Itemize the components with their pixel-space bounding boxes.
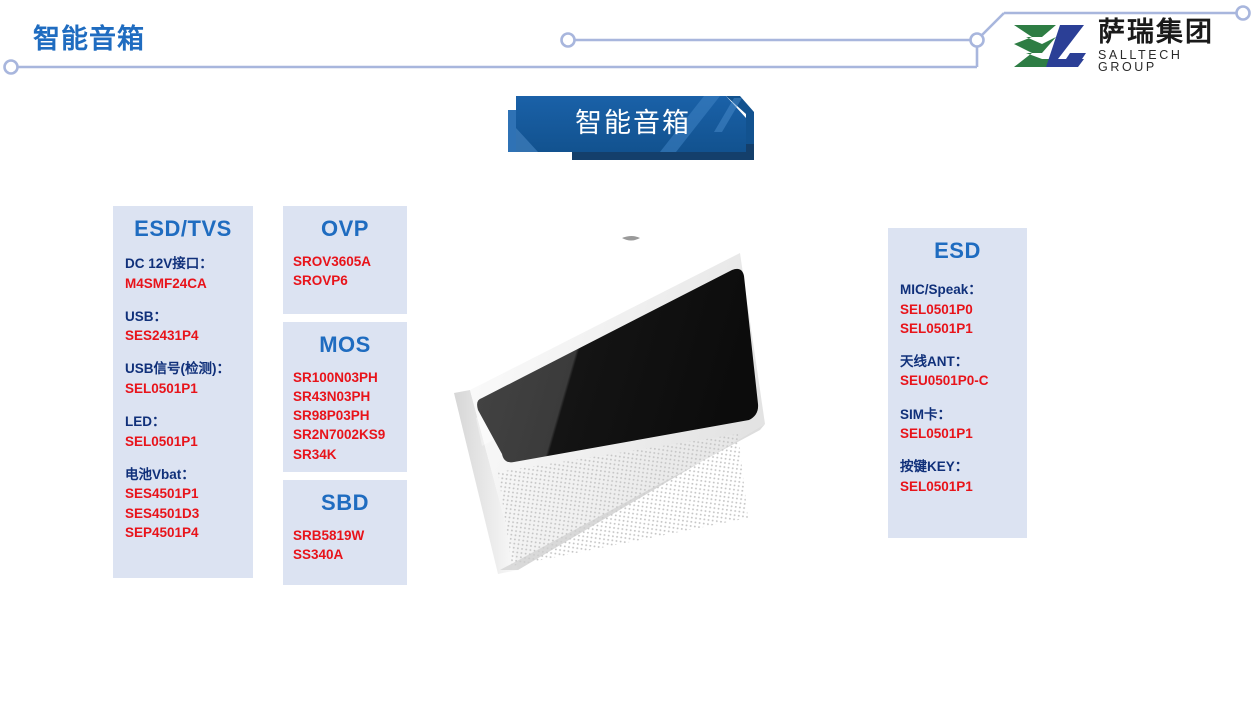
- spec-group: DC 12V接口： M4SMF24CA: [125, 254, 241, 293]
- spec-part: SEL0501P1: [900, 424, 1015, 443]
- spec-part: SEP4501P4: [125, 523, 241, 542]
- spec-group-list: DC 12V接口： M4SMF24CA USB： SES2431P4 USB信号…: [113, 254, 253, 542]
- spec-part: SROV3605A: [293, 252, 397, 271]
- spec-group: USB： SES2431P4: [125, 307, 241, 346]
- logo-name-en: SALLTECH GROUP: [1098, 49, 1247, 74]
- spec-part: SES4501P1: [125, 484, 241, 503]
- spec-label: USB：: [125, 307, 241, 327]
- spec-box-sbd: SBD SRB5819W SS340A: [283, 480, 407, 585]
- spec-part: SR2N7002KS9: [293, 425, 397, 444]
- spec-box-title: OVP: [283, 216, 407, 242]
- spec-box-ovp: OVP SROV3605A SROVP6: [283, 206, 407, 314]
- spec-label: SIM卡：: [900, 405, 1015, 425]
- company-logo: 萨瑞集团 SALLTECH GROUP: [1012, 18, 1247, 74]
- logo-name-cn: 萨瑞集团: [1098, 19, 1247, 46]
- spec-box-mos: MOS SR100N03PH SR43N03PH SR98P03PH SR2N7…: [283, 322, 407, 472]
- spec-part: SES4501D3: [125, 504, 241, 523]
- spec-label: DC 12V接口：: [125, 254, 241, 274]
- spec-part: SR34K: [293, 445, 397, 464]
- spec-box-title: ESD: [888, 238, 1027, 264]
- logo-wordmark: 萨瑞集团 SALLTECH GROUP: [1098, 19, 1247, 74]
- spec-group: LED： SEL0501P1: [125, 412, 241, 451]
- spec-label: LED：: [125, 412, 241, 432]
- spec-group-list: SROV3605A SROVP6: [283, 252, 407, 290]
- spec-box-title: MOS: [283, 332, 407, 358]
- spec-group: MIC/Speak： SEL0501P0 SEL0501P1: [900, 280, 1015, 338]
- spec-label: 电池Vbat：: [125, 465, 241, 485]
- section-banner: 智能音箱: [508, 88, 754, 160]
- spec-part: SEL0501P1: [900, 477, 1015, 496]
- spec-group: 天线ANT： SEU0501P0-C: [900, 352, 1015, 391]
- spec-part: SEL0501P1: [900, 319, 1015, 338]
- spec-part: SR100N03PH: [293, 368, 397, 387]
- spec-group: SROV3605A SROVP6: [293, 252, 397, 290]
- spec-part: M4SMF24CA: [125, 274, 241, 293]
- spec-group: USB信号(检测)： SEL0501P1: [125, 359, 241, 398]
- spec-part: SEL0501P1: [125, 432, 241, 451]
- spec-group: SRB5819W SS340A: [293, 526, 397, 564]
- spec-label: 天线ANT：: [900, 352, 1015, 372]
- spec-group: SR100N03PH SR43N03PH SR98P03PH SR2N7002K…: [293, 368, 397, 464]
- spec-box-title: ESD/TVS: [113, 216, 253, 242]
- spec-part: SROVP6: [293, 271, 397, 290]
- spec-group: SIM卡： SEL0501P1: [900, 405, 1015, 444]
- spec-box-esd: ESD MIC/Speak： SEL0501P0 SEL0501P1 天线ANT…: [888, 228, 1027, 538]
- spec-group: 按键KEY： SEL0501P1: [900, 457, 1015, 496]
- spec-box-esd-tvs: ESD/TVS DC 12V接口： M4SMF24CA USB： SES2431…: [113, 206, 253, 578]
- spec-label: 按键KEY：: [900, 457, 1015, 477]
- spec-group-list: SRB5819W SS340A: [283, 526, 407, 564]
- spec-part: SEU0501P0-C: [900, 371, 1015, 390]
- spec-label: MIC/Speak：: [900, 280, 1015, 300]
- spec-part: SRB5819W: [293, 526, 397, 545]
- spec-part: SR98P03PH: [293, 406, 397, 425]
- spec-part: SR43N03PH: [293, 387, 397, 406]
- spec-group: 电池Vbat： SES4501P1 SES4501D3 SEP4501P4: [125, 465, 241, 542]
- banner-shape: [508, 88, 754, 160]
- spec-group-list: SR100N03PH SR43N03PH SR98P03PH SR2N7002K…: [283, 368, 407, 464]
- page-header: 智能音箱 萨瑞集团 SALLTECH GROUP: [0, 0, 1257, 90]
- spec-part: SS340A: [293, 545, 397, 564]
- spec-box-title: SBD: [283, 490, 407, 516]
- spec-part: SES2431P4: [125, 326, 241, 345]
- spec-part: SEL0501P0: [900, 300, 1015, 319]
- product-image-smart-speaker: [440, 218, 785, 593]
- page-title: 智能音箱: [33, 17, 145, 56]
- spec-part: SEL0501P1: [125, 379, 241, 398]
- salltech-logo-mark: [1012, 23, 1090, 69]
- spec-group-list: MIC/Speak： SEL0501P0 SEL0501P1 天线ANT： SE…: [888, 280, 1027, 496]
- spec-label: USB信号(检测)：: [125, 359, 241, 379]
